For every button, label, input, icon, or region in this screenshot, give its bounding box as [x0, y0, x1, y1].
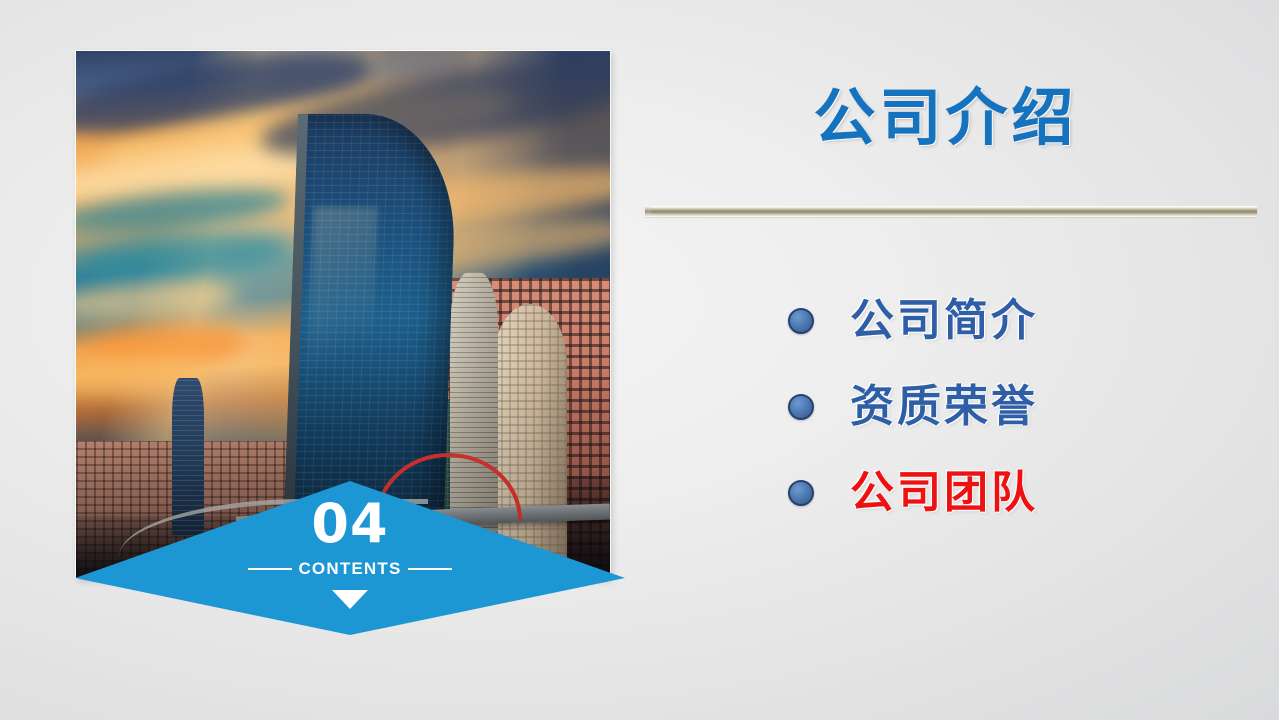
page-title: 公司介绍 [640, 82, 1251, 153]
agenda-list: 公司简介 资质荣誉 公司团队 [788, 278, 1248, 536]
list-item[interactable]: 资质荣誉 [788, 364, 1248, 450]
title-divider [645, 206, 1257, 217]
list-item[interactable]: 公司团队 [788, 450, 1248, 536]
agenda-item-label: 公司团队 [850, 469, 1038, 517]
bullet-dot-icon [788, 480, 814, 506]
agenda-item-label: 资质荣誉 [850, 383, 1038, 431]
agenda-item-label: 公司简介 [850, 297, 1038, 345]
bullet-dot-icon [788, 394, 814, 420]
slide-canvas: 04 CONTENTS 公司介绍 公司简介 资质荣誉 公司团队 [0, 0, 1279, 720]
bullet-dot-icon [788, 308, 814, 334]
list-item[interactable]: 公司简介 [788, 278, 1248, 364]
right-content-column: 公司介绍 公司简介 资质荣誉 公司团队 [640, 0, 1279, 720]
